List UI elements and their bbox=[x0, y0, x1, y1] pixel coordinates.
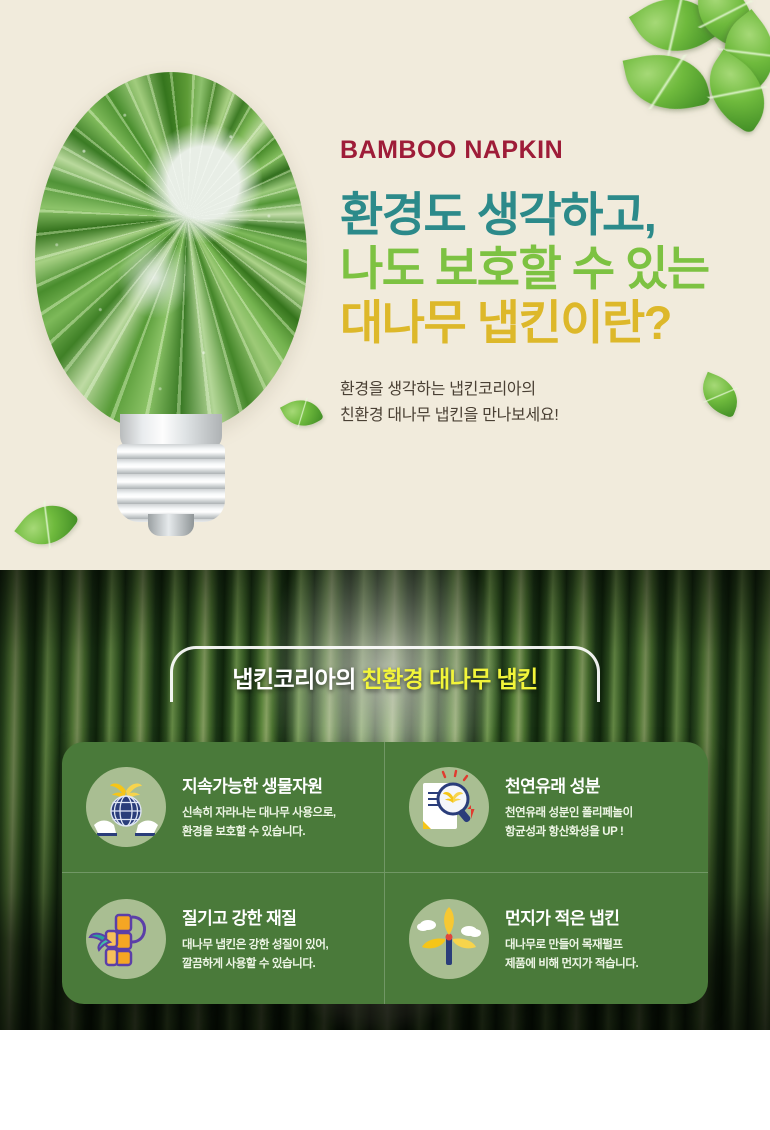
hero-subtitle-line-2: 친환경 대나무 냅킨을 만나보세요! bbox=[340, 403, 740, 429]
globe-in-hands-sprout-icon bbox=[86, 767, 166, 847]
feature-desc-line-1: 신속히 자라나는 대나무 사용으로, bbox=[182, 804, 336, 823]
feature-text: 질기고 강한 재질 대나무 냅킨은 강한 성질이 있어, 깔끔하게 사용할 수 … bbox=[182, 904, 328, 973]
canopy-highlights bbox=[35, 72, 307, 432]
feature-panel: 지속가능한 생물자원 신속히 자라나는 대나무 사용으로, 환경을 보호할 수 … bbox=[62, 742, 708, 1004]
feature-text: 천연유래 성분 천연유래 성분인 폴리페놀이 항균성과 항산화성을 UP ! bbox=[505, 772, 633, 841]
promo-page: BAMBOO NAPKIN 환경도 생각하고, 나도 보호할 수 있는 대나무 … bbox=[0, 0, 770, 1130]
feature-desc-line-2: 항균성과 항산화성을 UP ! bbox=[505, 823, 633, 842]
lightbulb-bamboo-forest-image bbox=[25, 72, 315, 532]
feature-desc-line-1: 대나무로 만들어 목재펄프 bbox=[505, 936, 638, 955]
bulb-glass bbox=[35, 72, 307, 432]
hero-section: BAMBOO NAPKIN 환경도 생각하고, 나도 보호할 수 있는 대나무 … bbox=[0, 0, 770, 570]
hero-subtitle: 환경을 생각하는 냅킨코리아의 친환경 대나무 냅킨을 만나보세요! bbox=[340, 377, 740, 429]
magnifier-document-sprout-icon bbox=[409, 767, 489, 847]
feature-text: 먼지가 적은 냅킨 대나무로 만들어 목재펄프 제품에 비해 먼지가 적습니다. bbox=[505, 904, 638, 973]
hero-copy: BAMBOO NAPKIN 환경도 생각하고, 나도 보호할 수 있는 대나무 … bbox=[340, 138, 740, 429]
headline-line-1: 환경도 생각하고, bbox=[340, 191, 740, 239]
feature-card-natural-ingredient[interactable]: 천연유래 성분 천연유래 성분인 폴리페놀이 항균성과 항산화성을 UP ! bbox=[385, 742, 708, 873]
leaf-cluster-icon bbox=[598, 0, 770, 156]
headline-line-3: 대나무 냅킨이란? bbox=[340, 299, 740, 347]
feature-title: 지속가능한 생물자원 bbox=[182, 772, 336, 797]
feature-text: 지속가능한 생물자원 신속히 자라나는 대나무 사용으로, 환경을 보호할 수 … bbox=[182, 772, 336, 841]
banner-title-prefix: 냅킨코리아의 bbox=[232, 666, 361, 692]
feature-card-sustainable[interactable]: 지속가능한 생물자원 신속히 자라나는 대나무 사용으로, 환경을 보호할 수 … bbox=[62, 742, 385, 873]
bamboo-stalk-leaves-icon bbox=[86, 899, 166, 979]
leaves-clouds-stem-icon bbox=[409, 899, 489, 979]
feature-title: 질기고 강한 재질 bbox=[182, 904, 328, 929]
feature-title: 먼지가 적은 냅킨 bbox=[505, 904, 638, 929]
eyebrow-label: BAMBOO NAPKIN bbox=[340, 138, 740, 163]
feature-card-low-dust[interactable]: 먼지가 적은 냅킨 대나무로 만들어 목재펄프 제품에 비해 먼지가 적습니다. bbox=[385, 873, 708, 1004]
bottom-white-strip bbox=[0, 1030, 770, 1130]
feature-desc-line-2: 깔끔하게 사용할 수 있습니다. bbox=[182, 955, 328, 974]
feature-title: 천연유래 성분 bbox=[505, 772, 633, 797]
leaf-icon bbox=[623, 45, 712, 120]
feature-desc-line-1: 대나무 냅킨은 강한 성질이 있어, bbox=[182, 936, 328, 955]
hero-subtitle-line-1: 환경을 생각하는 냅킨코리아의 bbox=[340, 377, 740, 403]
feature-desc-line-1: 천연유래 성분인 폴리페놀이 bbox=[505, 804, 633, 823]
feature-desc-line-2: 제품에 비해 먼지가 적습니다. bbox=[505, 955, 638, 974]
feature-desc-line-2: 환경을 보호할 수 있습니다. bbox=[182, 823, 336, 842]
headline-line-2: 나도 보호할 수 있는 bbox=[340, 245, 740, 293]
bulb-screw-base bbox=[117, 444, 225, 522]
banner-title-highlight: 친환경 대나무 냅킨 bbox=[362, 666, 538, 692]
page-title: 환경도 생각하고, 나도 보호할 수 있는 대나무 냅킨이란? bbox=[340, 191, 740, 347]
feature-card-strong-material[interactable]: 질기고 강한 재질 대나무 냅킨은 강한 성질이 있어, 깔끔하게 사용할 수 … bbox=[62, 873, 385, 1004]
banner-title: 냅킨코리아의 친환경 대나무 냅킨 bbox=[170, 660, 600, 694]
section-banner: 냅킨코리아의 친환경 대나무 냅킨 bbox=[170, 646, 600, 702]
